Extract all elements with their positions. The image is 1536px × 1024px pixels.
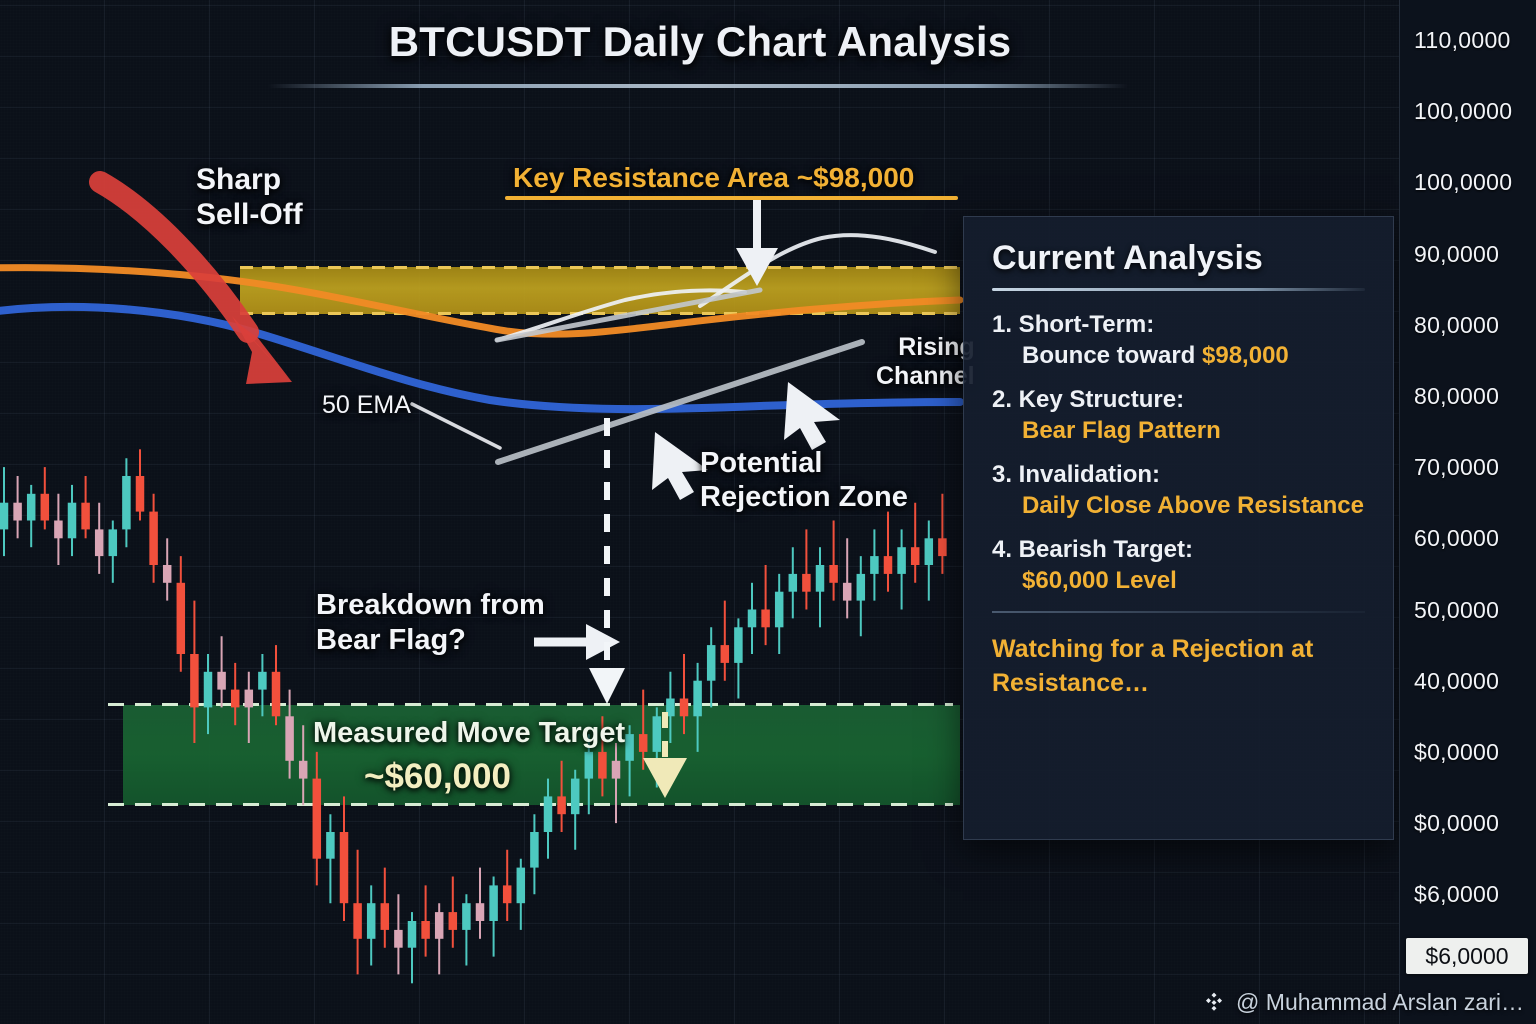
ema-label: 50 EMA <box>322 391 411 420</box>
candle-body <box>68 503 77 539</box>
axis-tick-6: 70,0000 <box>1414 454 1499 481</box>
candle-body <box>109 529 118 556</box>
rising-channel-label: Rising Channel <box>876 333 975 391</box>
chart-screenshot: Sharp Sell-Off Key Resistance Area ~$98,… <box>0 0 1536 1024</box>
breakdown-label: Breakdown from Bear Flag? <box>316 588 545 658</box>
candle-body <box>421 921 430 939</box>
candle-body <box>857 574 866 601</box>
analysis-item-sub: $60,000 Level <box>992 567 1369 595</box>
panel-footer-note: Watching for a Rejection at Resistance… <box>964 613 1393 701</box>
candle-body <box>489 885 498 921</box>
axis-tick-7: 60,0000 <box>1414 525 1499 552</box>
candle-body <box>177 583 186 654</box>
candle-body <box>530 832 539 868</box>
analysis-item: 1. Short-Term:Bounce toward $98,000 <box>992 311 1369 370</box>
analysis-item: 2. Key Structure:Bear Flag Pattern <box>992 386 1369 445</box>
candle-body <box>408 921 417 948</box>
candle-body <box>190 654 199 707</box>
title-divider <box>268 84 1128 88</box>
binance-diamond-icon <box>1201 990 1227 1016</box>
candle-body <box>476 903 485 921</box>
candle-body <box>462 903 471 930</box>
candle-body <box>829 565 838 583</box>
candle-body <box>925 538 934 565</box>
candle-body <box>41 494 50 521</box>
key-resistance-label: Key Resistance Area ~$98,000 <box>513 162 914 194</box>
candle-body <box>367 903 376 939</box>
candle-body <box>802 574 811 592</box>
page-title: BTCUSDT Daily Chart Analysis <box>0 18 1400 66</box>
analysis-item-sub-highlight: Bear Flag Pattern <box>1022 417 1221 444</box>
analysis-item-head: 3. Invalidation: <box>992 461 1369 489</box>
price-axis[interactable]: 110,0000100,0000100,000090,000080,000080… <box>1399 0 1536 1024</box>
candle-body <box>0 503 8 530</box>
candle-body <box>353 903 362 939</box>
axis-tick-12: $6,0000 <box>1414 881 1499 908</box>
axis-tick-5: 80,0000 <box>1414 383 1499 410</box>
candle-body <box>748 610 757 628</box>
ema-label-leader <box>412 404 500 448</box>
candle-body <box>557 796 566 814</box>
analysis-item: 4. Bearish Target:$60,000 Level <box>992 536 1369 595</box>
candle-body <box>585 752 594 779</box>
candle-body <box>680 699 689 717</box>
candle-body <box>843 583 852 601</box>
rising-channel-pointer-arrow <box>784 382 840 450</box>
candle-body <box>313 779 322 859</box>
candle-body <box>693 681 702 717</box>
analysis-item-sub-highlight: $98,000 <box>1202 342 1289 369</box>
candle-body <box>285 716 294 761</box>
rejection-zone-label: Potential Rejection Zone <box>700 446 908 514</box>
measured-move-value: ~$60,000 <box>364 757 511 797</box>
axis-tick-1: 100,0000 <box>1414 98 1512 125</box>
axis-tick-2: 100,0000 <box>1414 169 1512 196</box>
current-price-tag[interactable]: $6,0000 <box>1406 938 1528 974</box>
analysis-item-sub: Daily Close Above Resistance <box>992 492 1369 520</box>
panel-heading: Current Analysis <box>964 217 1393 278</box>
analysis-item-sub-plain: Bounce toward <box>1022 342 1202 369</box>
candle-body <box>54 521 63 539</box>
current-analysis-panel: Current Analysis 1. Short-Term:Bounce to… <box>963 216 1394 840</box>
candle-body <box>625 734 634 761</box>
analysis-item-head: 2. Key Structure: <box>992 386 1369 414</box>
candle-body <box>612 761 621 779</box>
axis-tick-0: 110,0000 <box>1414 27 1511 54</box>
analysis-item-sub-highlight: $60,000 Level <box>1022 567 1177 594</box>
candle-body <box>340 832 349 903</box>
candle-body <box>231 690 240 708</box>
analysis-item-sub: Bear Flag Pattern <box>992 417 1369 445</box>
candle-body <box>517 868 526 904</box>
candle-body <box>449 912 458 930</box>
candle-body <box>81 503 90 530</box>
sharp-selloff-label: Sharp Sell-Off <box>196 162 303 233</box>
candle-body <box>761 610 770 628</box>
candle-body <box>245 690 254 708</box>
target-arrowhead <box>643 758 687 798</box>
candle-body <box>326 832 335 859</box>
candle-body <box>272 672 281 717</box>
axis-tick-10: $0,0000 <box>1414 739 1499 766</box>
analysis-item-sub: Bounce toward $98,000 <box>992 342 1369 370</box>
candle-body <box>394 930 403 948</box>
candle-body <box>897 547 906 574</box>
candle-body <box>27 494 36 521</box>
candle-body <box>639 734 648 752</box>
candle-body <box>938 538 947 556</box>
measured-move-label: Measured Move Target <box>313 717 625 750</box>
breakdown-arrowhead <box>589 668 625 704</box>
candle-body <box>884 556 893 574</box>
axis-tick-3: 90,0000 <box>1414 241 1499 268</box>
axis-tick-11: $0,0000 <box>1414 810 1499 837</box>
candle-body <box>503 885 512 903</box>
candle-body <box>789 574 798 592</box>
candle-body <box>13 503 22 521</box>
candle-body <box>653 716 662 752</box>
candle-body <box>911 547 920 565</box>
axis-tick-4: 80,0000 <box>1414 312 1499 339</box>
candle-body <box>299 761 308 779</box>
candle-body <box>816 565 825 592</box>
candle-body <box>149 512 158 565</box>
key-resistance-underline <box>505 196 958 200</box>
candle-body <box>544 796 553 832</box>
candle-body <box>258 672 267 690</box>
candle-body <box>163 565 172 583</box>
candle-body <box>136 476 145 512</box>
candle-body <box>721 645 730 663</box>
resistance-pointer-arrow <box>736 200 778 286</box>
axis-tick-9: 40,0000 <box>1414 668 1499 695</box>
analysis-item-sub-highlight: Daily Close Above Resistance <box>1022 492 1364 519</box>
watermark-handle: @ Muhammad Arslan zari… <box>1236 989 1524 1016</box>
candle-body <box>381 903 390 930</box>
candle-body <box>435 912 444 939</box>
analysis-item-list: 1. Short-Term:Bounce toward $98,0002. Ke… <box>964 291 1393 595</box>
candle-body <box>122 476 130 529</box>
candle-body <box>95 529 104 556</box>
analysis-item-head: 4. Bearish Target: <box>992 536 1369 564</box>
watermark: @ Muhammad Arslan zari… <box>1201 989 1524 1016</box>
ema-50-line <box>0 268 960 335</box>
candle-body <box>571 779 580 815</box>
candle-body <box>204 672 213 708</box>
axis-tick-8: 50,0000 <box>1414 597 1499 624</box>
candle-body <box>217 672 226 690</box>
candle-body <box>734 627 743 663</box>
candle-body <box>775 592 784 628</box>
analysis-item: 3. Invalidation:Daily Close Above Resist… <box>992 461 1369 520</box>
candle-body <box>870 556 879 574</box>
candle-body <box>598 752 607 779</box>
analysis-item-head: 1. Short-Term: <box>992 311 1369 339</box>
candle-body <box>707 645 716 681</box>
